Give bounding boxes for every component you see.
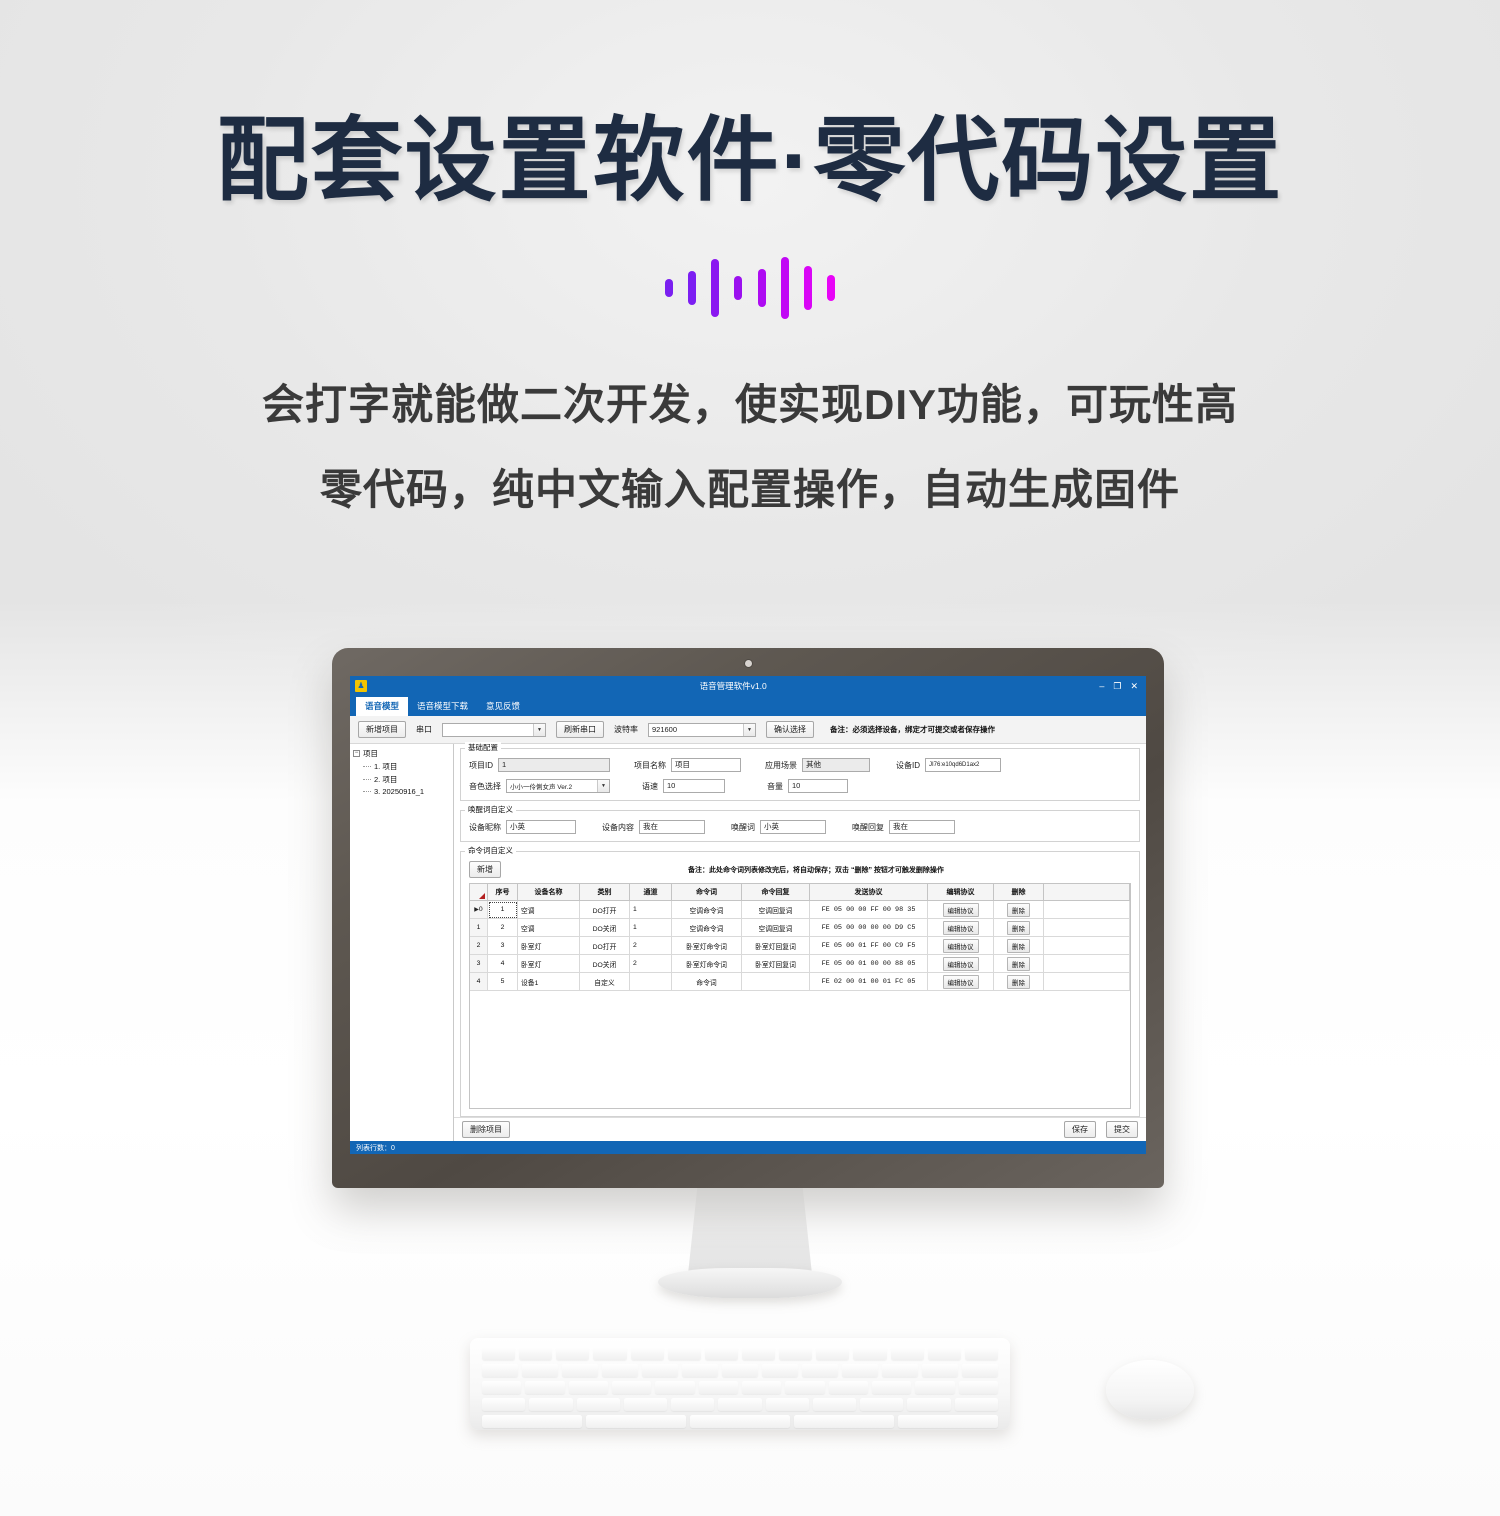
delete-project-button[interactable]: 删除项目	[462, 1121, 510, 1138]
cell-device[interactable]: 卧室灯	[518, 955, 580, 973]
cell-no: 1	[488, 901, 518, 919]
cell-edit[interactable]: 编辑协议	[928, 919, 994, 937]
project-name-input[interactable]: 项目	[671, 758, 741, 772]
cell-pad	[1044, 973, 1130, 991]
waveform-bar	[665, 279, 673, 297]
col-header-category[interactable]: 类别	[580, 884, 630, 901]
window-titlebar: ♟ 语音管理软件v1.0 – ❐ ✕	[350, 676, 1146, 696]
col-header-protocol[interactable]: 发送协议	[810, 884, 928, 901]
volume-label: 音量	[767, 781, 783, 792]
col-header-pad	[1044, 884, 1130, 901]
cell-reply[interactable]: 卧室灯回复词	[742, 937, 810, 955]
cell-command[interactable]: 卧室灯命令词	[672, 955, 742, 973]
tree-expander-icon[interactable]: −	[353, 750, 360, 757]
edit-protocol-button[interactable]: 编辑协议	[943, 975, 979, 989]
col-header-channel[interactable]: 通道	[630, 884, 672, 901]
cell-edit[interactable]: 编辑协议	[928, 937, 994, 955]
cell-protocol: FE 05 00 00 00 00 D9 C5	[810, 919, 928, 937]
table-row[interactable]: 4 5 设备1 自定义 命令词 FE 02 00 01 00 01 FC 05 …	[470, 973, 1130, 991]
project-id-input[interactable]: 1	[498, 758, 610, 772]
tree-branch-icon	[363, 779, 371, 780]
project-id-field[interactable]: 项目ID 1	[469, 758, 610, 772]
chevron-down-icon: ▼	[597, 780, 609, 792]
cell-pad	[1044, 919, 1130, 937]
app-icon: ♟	[355, 680, 367, 692]
cell-channel[interactable]: 1	[630, 919, 672, 937]
delete-row-button[interactable]: 删除	[1007, 975, 1030, 989]
cell-category[interactable]: DO关闭	[580, 919, 630, 937]
cell-category[interactable]: DO关闭	[580, 955, 630, 973]
cell-edit[interactable]: 编辑协议	[928, 901, 994, 919]
wake-reply-input[interactable]: 我在	[889, 820, 955, 834]
window-controls[interactable]: – ❐ ✕	[1099, 681, 1141, 692]
wakeword-input[interactable]: 小英	[760, 820, 826, 834]
window-title: 语音管理软件v1.0	[367, 680, 1099, 692]
commands-table: 序号 设备名称 类别 通道 命令词 命令回复 发送协议 编辑协议 删除	[469, 883, 1131, 991]
toolbar: 新增项目 串口 ▼ 刷新串口 波特率 921600 ▼ 确认选择 备注：必须选择…	[350, 716, 1146, 744]
table-empty-area	[469, 991, 1131, 1109]
delete-row-button[interactable]: 删除	[1007, 957, 1030, 971]
monitor: ♟ 语音管理软件v1.0 – ❐ ✕ 语音模型 语音模型下载 意见反馈 新增项目…	[332, 648, 1164, 1188]
scene-input[interactable]: 其他	[802, 758, 870, 772]
cell-delete[interactable]: 删除	[994, 973, 1044, 991]
tab-bar: 语音模型 语音模型下载 意见反馈	[350, 696, 1146, 716]
basic-config-label: 基础配置	[465, 742, 501, 753]
cell-pad	[1044, 937, 1130, 955]
monitor-stand-base	[658, 1268, 842, 1298]
cell-category[interactable]: DO打开	[580, 937, 630, 955]
delete-row-button[interactable]: 删除	[1007, 903, 1030, 917]
tree-children: 1. 项目 2. 项目 3. 20250916_1	[363, 761, 450, 796]
commands-group: 命令词自定义 新增 备注：此处命令词列表修改完后，将自动保存；双击 “删除” 按…	[460, 851, 1140, 1117]
save-button[interactable]: 保存	[1064, 1121, 1096, 1138]
minimize-icon[interactable]: –	[1099, 681, 1104, 692]
device-id-field[interactable]: 设备ID JI76:e10qd6D1ax2	[896, 758, 1001, 772]
cell-pad	[1044, 955, 1130, 973]
cell-reply[interactable]: 卧室灯回复词	[742, 955, 810, 973]
add-command-button[interactable]: 新增	[469, 861, 501, 878]
cell-protocol: FE 05 00 00 FF 00 98 35	[810, 901, 928, 919]
cell-protocol: FE 05 00 01 00 00 88 05	[810, 955, 928, 973]
volume-input[interactable]: 10	[788, 779, 848, 793]
cell-delete[interactable]: 删除	[994, 919, 1044, 937]
baud-value: 921600	[649, 724, 743, 736]
desk-scene: ♟ 语音管理软件v1.0 – ❐ ✕ 语音模型 语音模型下载 意见反馈 新增项目…	[0, 620, 1500, 1516]
cell-delete[interactable]: 删除	[994, 955, 1044, 973]
device-id-input[interactable]: JI76:e10qd6D1ax2	[925, 758, 1001, 772]
waveform-bar	[711, 259, 719, 317]
row-selector[interactable]: 1	[470, 919, 488, 937]
cell-reply[interactable]	[742, 973, 810, 991]
cell-device[interactable]: 卧室灯	[518, 937, 580, 955]
speed-field[interactable]: 语速 10	[642, 779, 725, 793]
tab-voice-model-download[interactable]: 语音模型下载	[408, 697, 477, 716]
page-title: 配套设置软件·零代码设置	[0, 0, 1500, 211]
tree-root-label: 项目	[363, 748, 378, 759]
speed-input[interactable]: 10	[663, 779, 725, 793]
cell-protocol: FE 02 00 01 00 01 FC 05	[810, 973, 928, 991]
footer-bar: 删除项目 保存 提交	[454, 1117, 1146, 1141]
keyboard	[470, 1338, 1010, 1430]
device-content-field[interactable]: 设备内容 我在	[602, 820, 705, 834]
wake-reply-label: 唤醒回复	[852, 822, 884, 833]
cell-command[interactable]: 卧室灯命令词	[672, 937, 742, 955]
subtitle-line-2: 零代码，纯中文输入配置操作，自动生成固件	[160, 464, 1340, 517]
tree-branch-icon	[363, 791, 371, 792]
cell-channel[interactable]: 2	[630, 937, 672, 955]
nickname-input[interactable]: 小英	[506, 820, 576, 834]
waveform-bar	[781, 257, 789, 319]
voice-waveform-icon	[665, 257, 835, 319]
project-tree[interactable]: − 项目 1. 项目 2. 项目	[350, 744, 454, 1141]
wakeword-field[interactable]: 唤醒词 小英	[731, 820, 826, 834]
commands-toolbar: 新增 备注：此处命令词列表修改完后，将自动保存；双击 “删除” 按钮才可触发删除…	[469, 861, 1131, 878]
wakeword-label: 唤醒词	[731, 822, 755, 833]
cell-edit[interactable]: 编辑协议	[928, 973, 994, 991]
baud-select[interactable]: 921600 ▼	[648, 723, 756, 737]
cell-reply[interactable]: 空调回复词	[742, 901, 810, 919]
submit-button[interactable]: 提交	[1106, 1121, 1138, 1138]
tree-root-node[interactable]: − 项目	[353, 748, 450, 759]
cell-device[interactable]: 设备1	[518, 973, 580, 991]
port-value	[443, 724, 533, 736]
scene-field[interactable]: 应用场景 其他	[765, 758, 870, 772]
voice-value: 小小一伶俐女声 Ver.2	[507, 780, 597, 792]
col-header-delete[interactable]: 删除	[994, 884, 1044, 901]
cell-delete[interactable]: 删除	[994, 901, 1044, 919]
waveform-bar	[758, 269, 766, 307]
hero-subtitle: 会打字就能做二次开发，使实现DIY功能，可玩性高 零代码，纯中文输入配置操作，自…	[160, 379, 1340, 516]
tree-branch-icon	[363, 766, 371, 767]
new-project-button[interactable]: 新增项目	[358, 721, 406, 738]
voice-select[interactable]: 小小一伶俐女声 Ver.2 ▼	[506, 779, 610, 793]
commands-group-label: 命令词自定义	[465, 845, 516, 856]
cell-category[interactable]: DO打开	[580, 901, 630, 919]
col-header-reply[interactable]: 命令回复	[742, 884, 810, 901]
toolbar-note: 备注：必须选择设备，绑定才可提交或者保存操作	[830, 724, 995, 735]
row-selector[interactable]: 3	[470, 955, 488, 973]
basic-config-group: 基础配置 项目ID 1 项目名称 项目 应用场景	[460, 748, 1140, 801]
mouse	[1106, 1360, 1194, 1420]
table-row[interactable]: 2 3 卧室灯 DO打开 2 卧室灯命令词 卧室灯回复词 FE 05 00 01…	[470, 937, 1130, 955]
cell-no: 4	[488, 955, 518, 973]
cell-channel[interactable]	[630, 973, 672, 991]
edit-protocol-button[interactable]: 编辑协议	[943, 921, 979, 935]
confirm-select-button[interactable]: 确认选择	[766, 721, 814, 738]
table-header-row: 序号 设备名称 类别 通道 命令词 命令回复 发送协议 编辑协议 删除	[470, 884, 1130, 901]
select-all-corner[interactable]	[470, 884, 488, 901]
cell-command[interactable]: 命令词	[672, 973, 742, 991]
cell-pad	[1044, 901, 1130, 919]
tab-voice-model[interactable]: 语音模型	[356, 697, 408, 716]
edit-protocol-button[interactable]: 编辑协议	[943, 903, 979, 917]
main-body: − 项目 1. 项目 2. 项目	[350, 744, 1146, 1141]
table-row[interactable]: 1 2 空调 DO关闭 1 空调命令词 空调回复词 FE 05 00 00 00…	[470, 919, 1130, 937]
chevron-down-icon: ▼	[533, 724, 545, 736]
port-select[interactable]: ▼	[442, 723, 546, 737]
chevron-down-icon: ▼	[743, 724, 755, 736]
cell-command[interactable]: 空调命令词	[672, 901, 742, 919]
tree-item[interactable]: 1. 项目	[363, 761, 450, 772]
maximize-icon[interactable]: ❐	[1113, 681, 1121, 692]
cell-device[interactable]: 空调	[518, 919, 580, 937]
corner-triangle-icon	[479, 893, 485, 899]
nickname-field[interactable]: 设备昵称 小英	[469, 820, 576, 834]
refresh-port-button[interactable]: 刷新串口	[556, 721, 604, 738]
waveform-bar	[688, 271, 696, 305]
row-selector[interactable]: ▶0	[470, 901, 488, 919]
delete-row-button[interactable]: 删除	[1007, 939, 1030, 953]
row-selector[interactable]: 4	[470, 973, 488, 991]
cell-device[interactable]: 空调	[518, 901, 580, 919]
status-bar: 列表行数：0	[350, 1141, 1146, 1154]
device-id-label: 设备ID	[896, 760, 920, 771]
col-header-command[interactable]: 命令词	[672, 884, 742, 901]
project-name-label: 项目名称	[634, 760, 666, 771]
voice-label: 音色选择	[469, 781, 501, 792]
nickname-label: 设备昵称	[469, 822, 501, 833]
port-label: 串口	[416, 724, 432, 735]
table-row[interactable]: ▶0 1 空调 DO打开 1 空调命令词 空调回复词 FE 05 00 00 F…	[470, 901, 1130, 919]
cell-edit[interactable]: 编辑协议	[928, 955, 994, 973]
edit-protocol-button[interactable]: 编辑协议	[943, 939, 979, 953]
cell-channel[interactable]: 2	[630, 955, 672, 973]
close-icon[interactable]: ✕	[1130, 681, 1138, 692]
cell-command[interactable]: 空调命令词	[672, 919, 742, 937]
waveform-bar	[734, 276, 742, 300]
project-id-label: 项目ID	[469, 760, 493, 771]
webcam-icon	[745, 660, 752, 667]
monitor-stand-neck	[688, 1182, 812, 1274]
scene-label: 应用场景	[765, 760, 797, 771]
cell-no: 5	[488, 973, 518, 991]
waveform-bar	[804, 266, 812, 310]
col-header-edit[interactable]: 编辑协议	[928, 884, 994, 901]
tree-item[interactable]: 3. 20250916_1	[363, 787, 450, 796]
cell-no: 2	[488, 919, 518, 937]
table-row[interactable]: 3 4 卧室灯 DO关闭 2 卧室灯命令词 卧室灯回复词 FE 05 00 01…	[470, 955, 1130, 973]
cell-no: 3	[488, 937, 518, 955]
hero-section: 配套设置软件·零代码设置 会打字就能做二次开发，使实现DIY功能，可玩性高 零代…	[0, 0, 1500, 548]
col-header-no[interactable]: 序号	[488, 884, 518, 901]
baud-label: 波特率	[614, 724, 638, 735]
cell-category[interactable]: 自定义	[580, 973, 630, 991]
cell-channel[interactable]: 1	[630, 901, 672, 919]
config-pane: 基础配置 项目ID 1 项目名称 项目 应用场景	[454, 744, 1146, 1141]
wakeword-group-label: 唤醒词自定义	[465, 804, 516, 815]
delete-row-button[interactable]: 删除	[1007, 921, 1030, 935]
voice-select-field[interactable]: 音色选择 小小一伶俐女声 Ver.2 ▼	[469, 779, 610, 793]
volume-field[interactable]: 音量 10	[767, 779, 848, 793]
wake-reply-field[interactable]: 唤醒回复 我在	[852, 820, 955, 834]
commands-note: 备注：此处命令词列表修改完后，将自动保存；双击 “删除” 按钮才可触发删除操作	[501, 865, 1131, 875]
device-content-label: 设备内容	[602, 822, 634, 833]
waveform-bar	[827, 275, 835, 301]
col-header-device[interactable]: 设备名称	[518, 884, 580, 901]
tree-item-label: 1. 项目	[374, 761, 397, 772]
tree-item[interactable]: 2. 项目	[363, 774, 450, 785]
speed-label: 语速	[642, 781, 658, 792]
row-selector[interactable]: 2	[470, 937, 488, 955]
tree-item-label: 3. 20250916_1	[374, 787, 424, 796]
device-content-input[interactable]: 我在	[639, 820, 705, 834]
subtitle-line-1: 会打字就能做二次开发，使实现DIY功能，可玩性高	[160, 379, 1340, 432]
cell-reply[interactable]: 空调回复词	[742, 919, 810, 937]
wakeword-group: 唤醒词自定义 设备昵称 小英 设备内容 我在 唤醒词	[460, 810, 1140, 842]
project-name-field[interactable]: 项目名称 项目	[634, 758, 741, 772]
tab-feedback[interactable]: 意见反馈	[477, 697, 529, 716]
cell-delete[interactable]: 删除	[994, 937, 1044, 955]
tree-item-label: 2. 项目	[374, 774, 397, 785]
edit-protocol-button[interactable]: 编辑协议	[943, 957, 979, 971]
app-window: ♟ 语音管理软件v1.0 – ❐ ✕ 语音模型 语音模型下载 意见反馈 新增项目…	[350, 676, 1146, 1154]
cell-protocol: FE 05 00 01 FF 00 C9 F5	[810, 937, 928, 955]
